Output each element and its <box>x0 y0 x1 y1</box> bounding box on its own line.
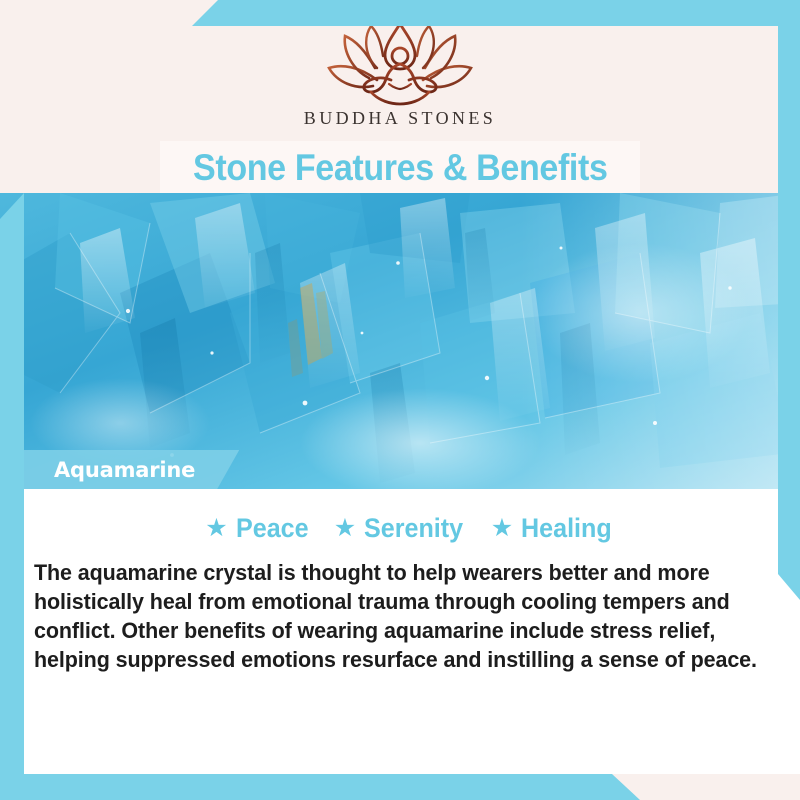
keyword-label: Serenity <box>364 513 463 544</box>
stone-name-label: Aquamarine <box>54 458 195 482</box>
keyword-item-healing: ★ Healing <box>491 513 619 544</box>
description-text: The aquamarine crystal is thought to hel… <box>34 558 793 674</box>
page-title: Stone Features & Benefits <box>193 149 608 186</box>
keyword-label: Peace <box>236 513 309 544</box>
decorative-strip-right <box>778 0 800 600</box>
keyword-list: ★ Peace ★ Serenity ★ Healing <box>30 513 794 544</box>
title-banner: Stone Features & Benefits <box>160 141 640 193</box>
keyword-item-peace: ★ Peace <box>205 513 314 544</box>
decorative-strip-left <box>0 193 24 778</box>
infographic-page: BUDDHA STONES Stone Features & Benefits <box>0 0 800 800</box>
decorative-strip-bottom <box>0 774 640 800</box>
content-panel: ★ Peace ★ Serenity ★ Healing The aquamar… <box>24 489 800 774</box>
keyword-label: Healing <box>521 513 612 544</box>
star-icon: ★ <box>205 516 227 541</box>
crystal-photo <box>0 193 800 489</box>
star-icon: ★ <box>491 516 513 541</box>
star-icon: ★ <box>334 516 356 541</box>
stone-name-tag: Aquamarine <box>24 450 239 489</box>
brand-name: BUDDHA STONES <box>304 108 496 129</box>
keyword-item-serenity: ★ Serenity <box>334 513 471 544</box>
lotus-meditation-icon <box>315 22 485 106</box>
